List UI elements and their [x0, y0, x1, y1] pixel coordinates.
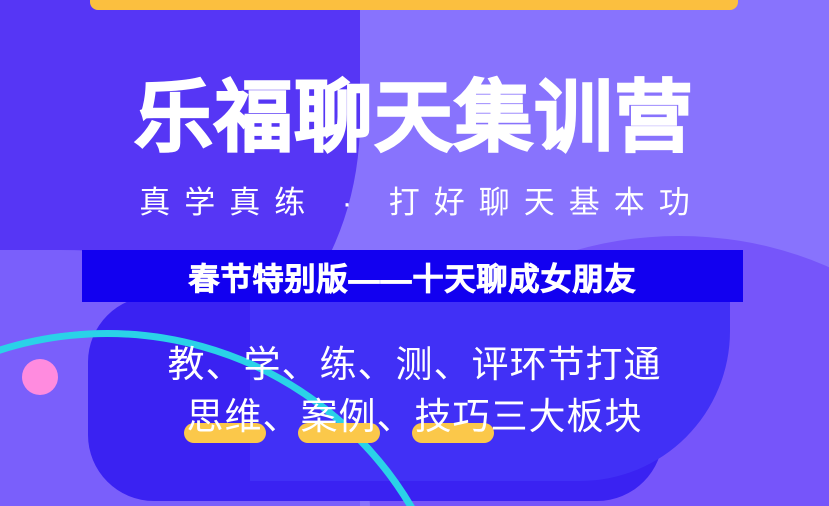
feature-line-two: 思维、案例、技巧三大板块	[0, 393, 829, 441]
page-title: 乐福聊天集训营	[0, 72, 829, 164]
feature-highlight-jiqiao: 技巧	[415, 393, 491, 441]
promo-poster: 乐福聊天集训营 真学真练 · 打好聊天基本功 春节特别版——十天聊成女朋友 教、…	[0, 0, 829, 506]
poster-content: 乐福聊天集训营 真学真练 · 打好聊天基本功 春节特别版——十天聊成女朋友 教、…	[0, 0, 829, 506]
feature-highlight-siwei: 思维	[187, 393, 263, 441]
feature-line-two-tail: 三大板块	[491, 396, 643, 437]
feature-line-one: 教、学、练、测、评环节打通	[0, 341, 829, 389]
feature-separator-one: 、	[263, 396, 301, 437]
page-subtitle: 真学真练 · 打好聊天基本功	[0, 183, 829, 223]
feature-highlight-anli: 案例	[301, 393, 377, 441]
feature-separator-two: 、	[377, 396, 415, 437]
promo-banner: 春节特别版——十天聊成女朋友	[82, 250, 743, 302]
promo-banner-text: 春节特别版——十天聊成女朋友	[189, 254, 637, 299]
